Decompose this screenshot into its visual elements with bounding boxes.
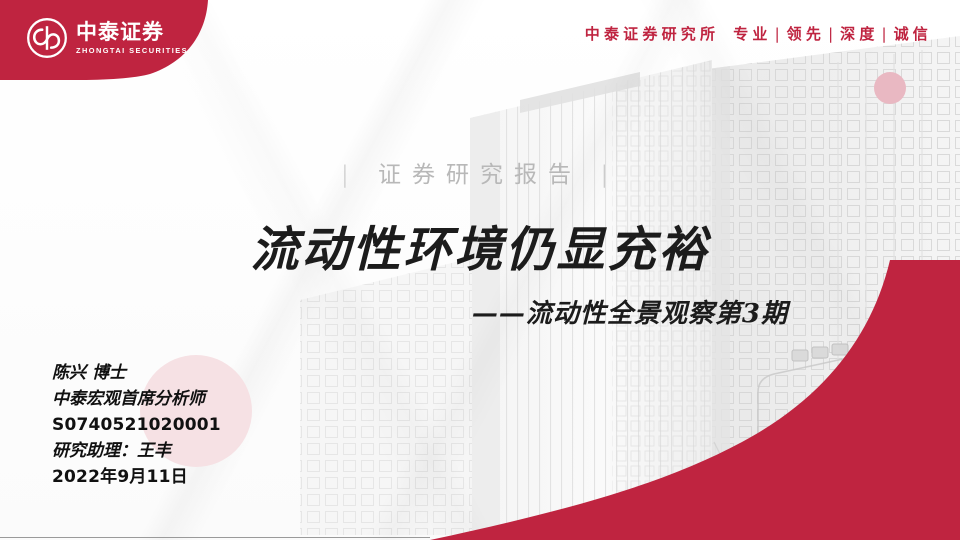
eyebrow-right-bar: | bbox=[600, 162, 619, 188]
eyebrow-left-bar: | bbox=[341, 162, 360, 188]
page-subtitle: ——流动性全景观察第3期 bbox=[472, 293, 788, 330]
zhongtai-monogram-icon bbox=[26, 17, 68, 59]
author-info-block: 陈兴 博士 中泰宏观首席分析师 S0740521020001 研究助理：王丰 2… bbox=[52, 360, 221, 490]
header-separator-0: | bbox=[775, 25, 780, 43]
pink-dot-decoration bbox=[874, 72, 906, 104]
header-tagline: 中泰证券研究所 专业 | 领先 | 深度 | 诚信 bbox=[585, 23, 932, 44]
brand-name-en: ZHONGTAI SECURITIES bbox=[76, 47, 188, 54]
header-value-0: 专业 bbox=[733, 23, 771, 44]
report-date: 2022年9月11日 bbox=[52, 464, 221, 490]
header-value-3: 诚信 bbox=[894, 23, 932, 44]
header-separator-2: | bbox=[882, 25, 887, 43]
report-type-eyebrow: | 证券研究报告 | bbox=[0, 155, 960, 189]
header-institute: 中泰证券研究所 bbox=[585, 23, 719, 44]
header-value-2: 深度 bbox=[840, 23, 878, 44]
footer-hairline bbox=[0, 537, 430, 538]
author-license-number: S0740521020001 bbox=[52, 412, 221, 438]
title-slide: 中泰证券 ZHONGTAI SECURITIES 中泰证券研究所 专业 | 领先… bbox=[0, 0, 960, 540]
brand-logo: 中泰证券 ZHONGTAI SECURITIES bbox=[26, 17, 188, 59]
eyebrow-text: 证券研究报告 bbox=[378, 162, 582, 188]
author-role: 中泰宏观首席分析师 bbox=[52, 386, 221, 412]
brand-name-cn: 中泰证券 bbox=[76, 22, 188, 43]
research-assistant: 研究助理：王丰 bbox=[52, 438, 221, 464]
author-name: 陈兴 博士 bbox=[52, 360, 221, 386]
page-title: 流动性环境仍显充裕 bbox=[0, 210, 960, 280]
header-value-1: 领先 bbox=[787, 23, 825, 44]
header-separator-1: | bbox=[828, 25, 833, 43]
